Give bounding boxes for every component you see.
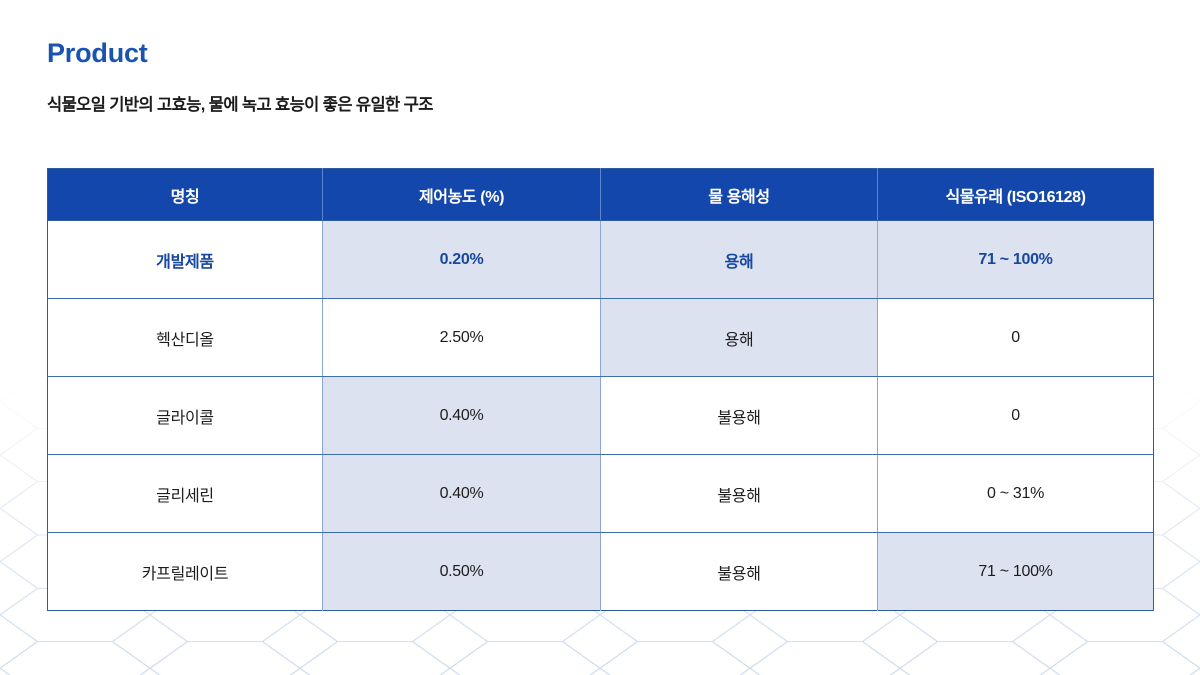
cell-name: 개발제품 <box>48 221 323 299</box>
cell-plant-origin: 0 <box>878 299 1154 377</box>
cell-name: 글라이콜 <box>48 377 323 455</box>
page-title: Product <box>47 38 433 69</box>
cell-name: 헥산디올 <box>48 299 323 377</box>
column-header-plant-origin: 식물유래 (ISO16128) <box>878 169 1154 221</box>
table-header-row: 명칭 제어농도 (%) 물 용해성 식물유래 (ISO16128) <box>48 169 1154 221</box>
table-row: 카프릴레이트 0.50% 불용해 71 ~ 100% <box>48 533 1154 611</box>
cell-concentration: 0.50% <box>323 533 601 611</box>
cell-concentration: 0.40% <box>323 455 601 533</box>
cell-concentration: 0.40% <box>323 377 601 455</box>
cell-solubility: 불용해 <box>601 377 878 455</box>
heading-block: Product 식물오일 기반의 고효능, 물에 녹고 효능이 좋은 유일한 구… <box>47 38 433 115</box>
table-row: 글라이콜 0.40% 불용해 0 <box>48 377 1154 455</box>
table-body: 개발제품 0.20% 용해 71 ~ 100% 헥산디올 2.50% 용해 0 … <box>48 221 1154 611</box>
cell-solubility: 용해 <box>601 299 878 377</box>
table-row: 헥산디올 2.50% 용해 0 <box>48 299 1154 377</box>
column-header-concentration: 제어농도 (%) <box>323 169 601 221</box>
cell-solubility: 불용해 <box>601 455 878 533</box>
product-comparison-table: 명칭 제어농도 (%) 물 용해성 식물유래 (ISO16128) 개발제품 0… <box>47 168 1154 611</box>
cell-name: 카프릴레이트 <box>48 533 323 611</box>
page-subtitle: 식물오일 기반의 고효능, 물에 녹고 효능이 좋은 유일한 구조 <box>47 91 433 115</box>
cell-concentration: 0.20% <box>323 221 601 299</box>
table-header: 명칭 제어농도 (%) 물 용해성 식물유래 (ISO16128) <box>48 169 1154 221</box>
slide-canvas: Product 식물오일 기반의 고효능, 물에 녹고 효능이 좋은 유일한 구… <box>0 0 1200 675</box>
cell-solubility: 불용해 <box>601 533 878 611</box>
cell-name: 글리세린 <box>48 455 323 533</box>
table-row: 글리세린 0.40% 불용해 0 ~ 31% <box>48 455 1154 533</box>
column-header-solubility: 물 용해성 <box>601 169 878 221</box>
column-header-name: 명칭 <box>48 169 323 221</box>
cell-plant-origin: 71 ~ 100% <box>878 221 1154 299</box>
table-row: 개발제품 0.20% 용해 71 ~ 100% <box>48 221 1154 299</box>
cell-concentration: 2.50% <box>323 299 601 377</box>
cell-plant-origin: 0 ~ 31% <box>878 455 1154 533</box>
cell-solubility: 용해 <box>601 221 878 299</box>
cell-plant-origin: 0 <box>878 377 1154 455</box>
spec-table-container: 명칭 제어농도 (%) 물 용해성 식물유래 (ISO16128) 개발제품 0… <box>47 168 1153 611</box>
cell-plant-origin: 71 ~ 100% <box>878 533 1154 611</box>
